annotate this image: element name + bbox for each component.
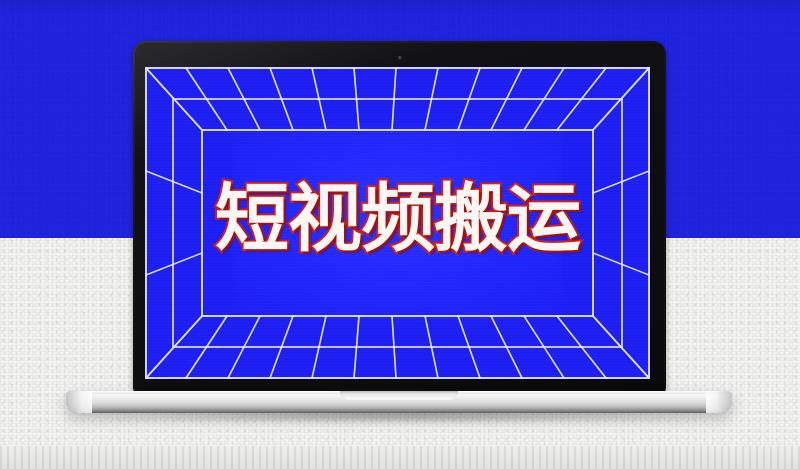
- laptop-base-right-cap: [706, 391, 732, 413]
- laptop-base-left-cap: [66, 391, 92, 413]
- laptop-base-shadow: [72, 412, 726, 423]
- laptop-base-notch: [340, 391, 458, 400]
- laptop-base: [66, 391, 732, 413]
- screen-headline: 短视频搬运: [145, 67, 650, 379]
- laptop: 短视频搬运: [0, 0, 800, 469]
- headline-text: 短视频搬运: [215, 182, 580, 256]
- laptop-screen: 短视频搬运: [145, 67, 650, 379]
- laptop-lid: 短视频搬运: [133, 41, 666, 393]
- screenshot-stage: 短视频搬运: [0, 0, 800, 469]
- webcam-icon: [398, 56, 402, 60]
